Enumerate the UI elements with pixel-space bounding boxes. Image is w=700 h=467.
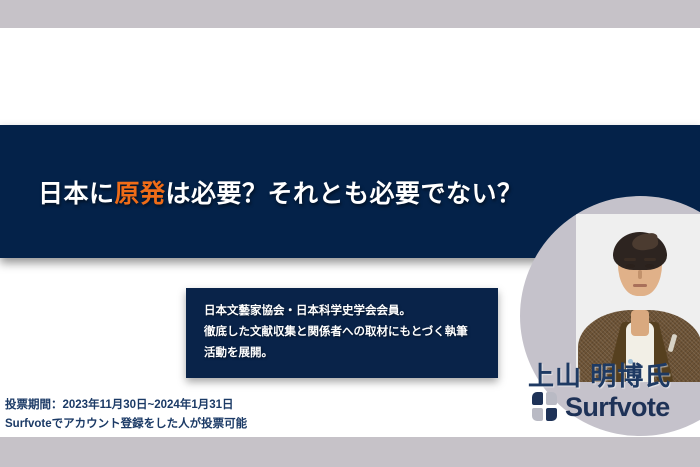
bottom-gray-band [0, 437, 700, 467]
surfvote-wordmark: Surfvote [565, 394, 670, 421]
surfvote-brand: Surfvote [532, 392, 670, 422]
photo-nose [638, 270, 642, 279]
photo-mouth [633, 284, 647, 287]
description-box: 日本文藝家協会・日本科学史学会会員。 徹底した文献収集と関係者への取材にもとづく… [186, 288, 498, 378]
title-text-before: 日本に [38, 180, 115, 208]
title-text-after: は必要？それとも必要でない？ [166, 180, 523, 208]
photo-eye-left [626, 264, 635, 268]
slide-canvas: 日本に原発は必要？それとも必要でない？ 日本文藝家協会・日本科学史学会会員。 徹… [0, 0, 700, 467]
description-line: 活動を展開。 [204, 343, 498, 364]
logo-quadrant-bottom-left [532, 408, 543, 421]
description-line: 日本文藝家協会・日本科学史学会会員。 [204, 301, 498, 322]
person-name: 上山 明博氏 [528, 356, 671, 393]
title-text-accent: 原発 [115, 180, 166, 208]
top-gray-band [0, 0, 700, 28]
logo-quadrant-bottom-right [546, 408, 557, 421]
logo-quadrant-top-right [546, 392, 557, 405]
photo-eye-right [645, 264, 654, 268]
page-title: 日本に原発は必要？それとも必要でない？ [38, 174, 523, 210]
photo-eyebrow-right [644, 258, 656, 261]
photo-neck [631, 310, 649, 336]
surfvote-logo-icon [532, 392, 558, 422]
description-line: 徹底した文献収集と関係者への取材にもとづく執筆 [204, 322, 498, 343]
vote-info: 投票期間：2023年11月30日~2024年1月31日 Surfvoteでアカウ… [5, 396, 247, 434]
vote-period-line: 投票期間：2023年11月30日~2024年1月31日 [5, 396, 247, 415]
photo-eyebrow-left [624, 258, 636, 261]
logo-quadrant-top-left [532, 392, 543, 405]
vote-eligibility-line: Surfvoteでアカウント登録をした人が投票可能 [5, 415, 247, 434]
